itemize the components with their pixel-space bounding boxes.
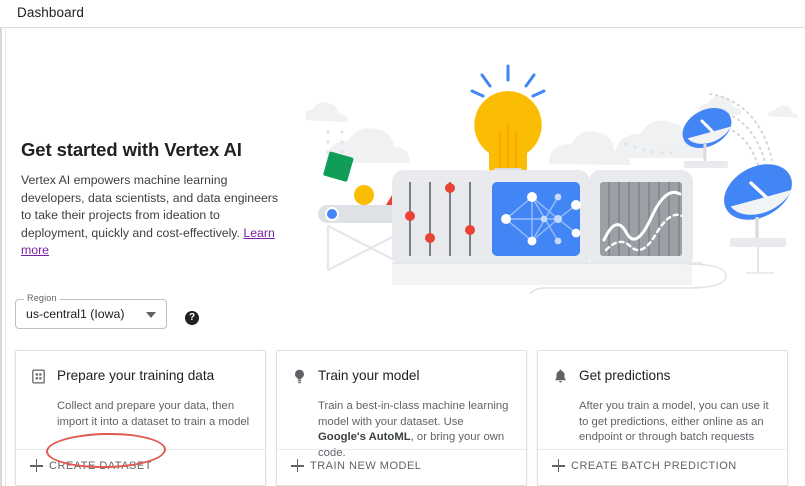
hero-banner: Get started with Vertex AI Vertex AI emp… (6, 29, 805, 294)
page-title: Dashboard (17, 5, 84, 20)
hero-description: Vertex AI empowers machine learning deve… (21, 172, 289, 260)
card-description-text-before: Train a best-in-class machine learning m… (318, 400, 508, 428)
chevron-down-icon[interactable] (146, 312, 156, 318)
page-header: Dashboard (0, 0, 805, 28)
card-description-text: After you train a model, you can use it … (579, 400, 769, 443)
card-header: Get predictions (538, 351, 787, 390)
card-footer: TRAIN NEW MODEL (277, 449, 526, 485)
hero-title: Get started with Vertex AI (21, 139, 289, 161)
card-title: Get predictions (579, 367, 670, 384)
chart-panel-illustration (589, 170, 693, 268)
hero-text-block: Get started with Vertex AI Vertex AI emp… (21, 139, 289, 260)
card-get-predictions[interactable]: Get predictions After you train a model,… (537, 350, 788, 486)
help-icon[interactable]: ? (185, 311, 199, 325)
card-header: Train your model (277, 351, 526, 390)
table-grid-icon (30, 368, 48, 390)
card-train-your-model[interactable]: Train your model Train a best-in-class m… (276, 350, 527, 486)
satellite-dish-large-illustration (714, 153, 801, 273)
region-label: Region (24, 293, 60, 303)
card-title: Train your model (318, 367, 420, 384)
card-header: Prepare your training data (16, 351, 265, 390)
card-footer: CREATE DATASET (16, 449, 265, 485)
card-footer: CREATE BATCH PREDICTION (538, 449, 787, 485)
plus-icon (552, 459, 565, 472)
region-select[interactable]: Region us-central1 (Iowa) (15, 299, 167, 329)
card-description: Collect and prepare your data, then impo… (57, 399, 251, 430)
window-left-edge (0, 0, 2, 486)
create-dataset-label: CREATE DATASET (49, 460, 152, 472)
card-prepare-training-data[interactable]: Prepare your training data Collect and p… (15, 350, 266, 486)
vertex-ai-dashboard: Dashboard Get started with Vertex AI Ver… (0, 0, 805, 486)
create-batch-prediction-label: CREATE BATCH PREDICTION (571, 460, 737, 472)
plus-icon (30, 459, 43, 472)
card-description: After you train a model, you can use it … (579, 399, 773, 446)
hero-illustration (306, 58, 805, 294)
card-description-emphasis: Google's AutoML (318, 431, 411, 443)
getting-started-cards: Prepare your training data Collect and p… (15, 350, 790, 486)
bell-icon (552, 368, 570, 390)
card-title: Prepare your training data (57, 367, 214, 384)
card-description-text: Collect and prepare your data, then impo… (57, 400, 249, 428)
hero-description-text: Vertex AI empowers machine learning deve… (21, 173, 278, 240)
train-new-model-button[interactable]: TRAIN NEW MODEL (291, 459, 421, 472)
create-batch-prediction-button[interactable]: CREATE BATCH PREDICTION (552, 459, 737, 472)
region-selector-row: Region us-central1 (Iowa) ? (15, 299, 167, 339)
plus-icon (291, 459, 304, 472)
region-selected-value: us-central1 (Iowa) (26, 307, 124, 321)
lightbulb-icon (291, 368, 309, 390)
train-new-model-label: TRAIN NEW MODEL (310, 460, 421, 472)
create-dataset-button[interactable]: CREATE DATASET (30, 459, 152, 472)
